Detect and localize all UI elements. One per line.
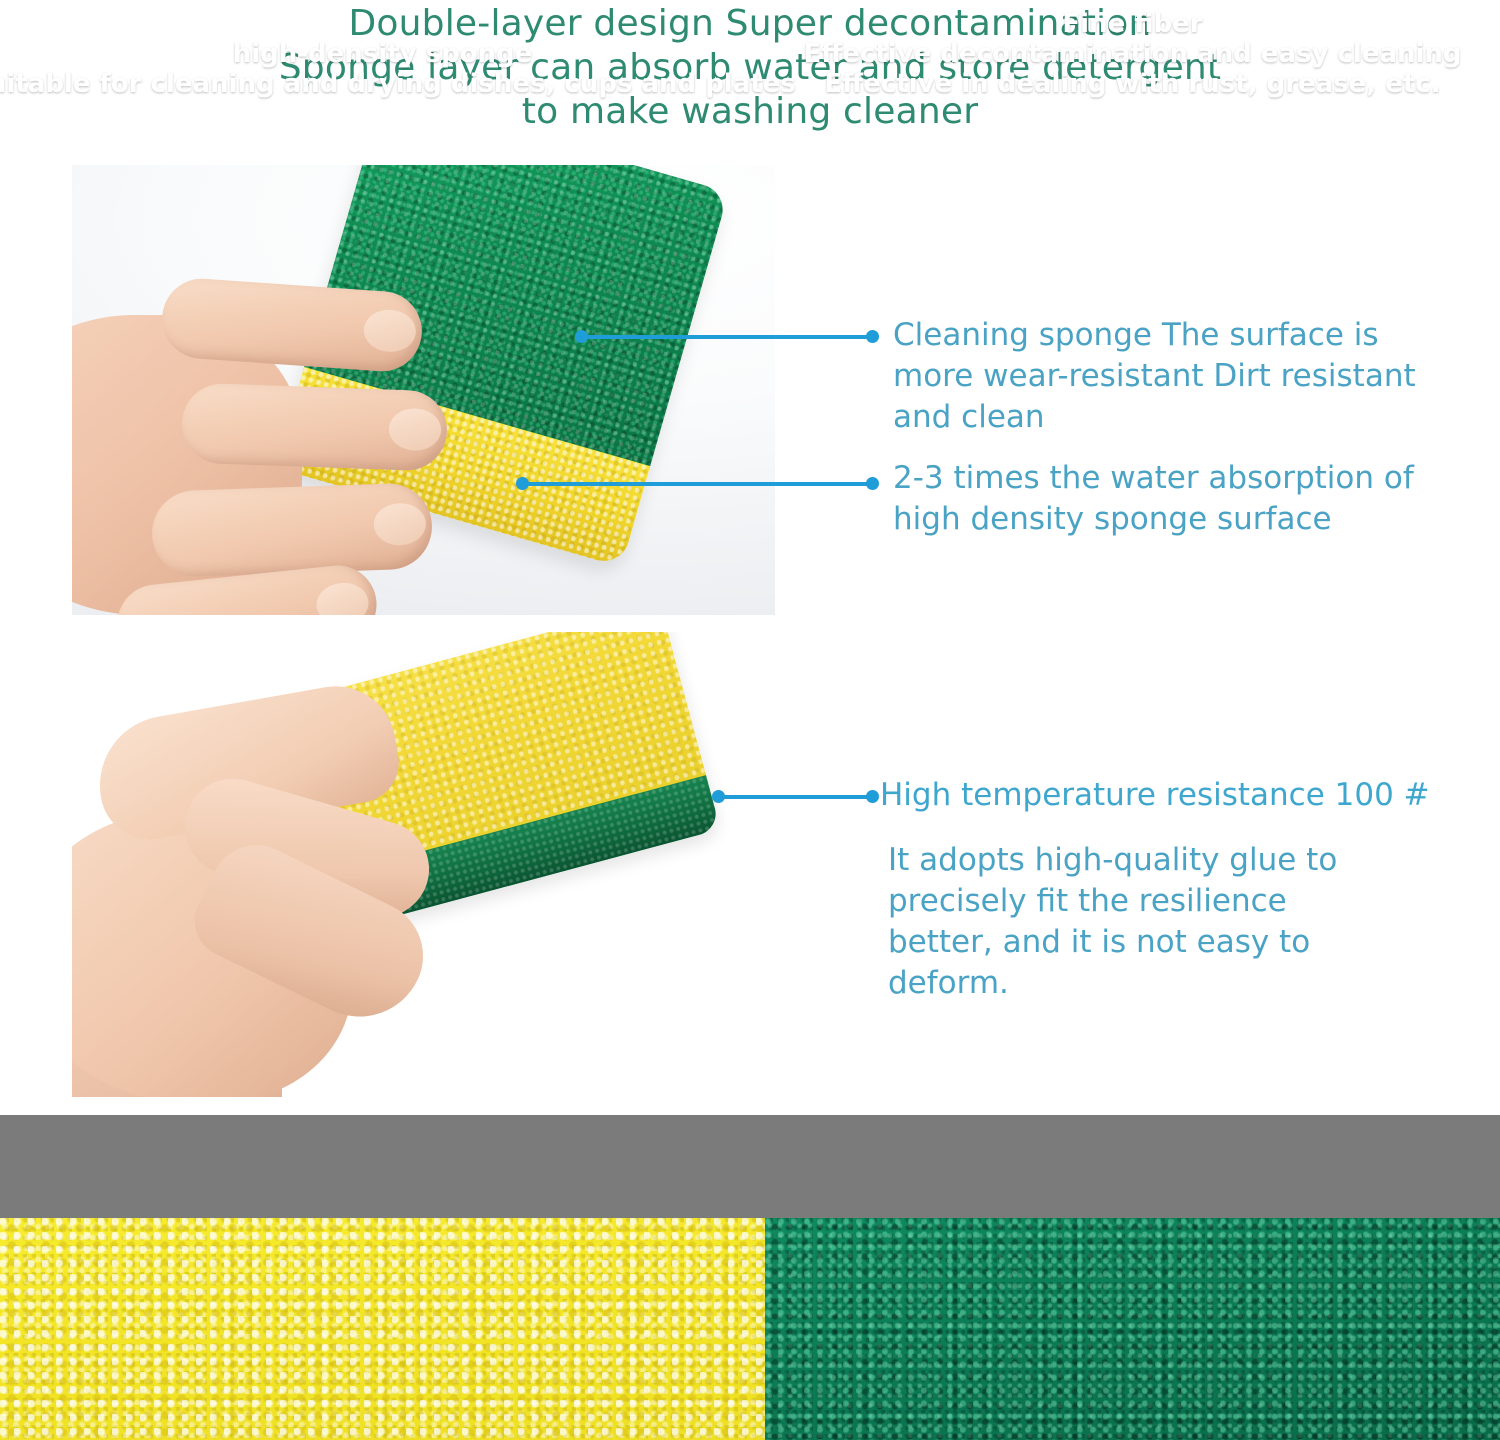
- leader-dot-end-2: [866, 477, 879, 490]
- callout-line: High temperature resistance 100 #: [880, 775, 1490, 816]
- fingernail-icon: [362, 308, 417, 354]
- product-photo-yellow-side: [72, 632, 775, 1097]
- finger-middle: [181, 382, 449, 471]
- leader-dot-end-1: [866, 330, 879, 343]
- band-right-subtitle-2: Effective in dealing with rust, grease, …: [824, 69, 1440, 99]
- fingernail-icon: [373, 502, 426, 546]
- callout-glue-resilience: It adopts high-quality glue to precisely…: [888, 840, 1488, 1004]
- leader-line-1: [581, 335, 875, 339]
- callout-line: It adopts high-quality glue to: [888, 840, 1488, 881]
- fingernail-icon: [388, 408, 441, 452]
- hand-graphic: [72, 692, 512, 1092]
- leader-line-2: [522, 482, 874, 486]
- texture-swatch-yellow-sponge: [0, 1218, 765, 1440]
- bottom-caption-band: [0, 1115, 1500, 1218]
- band-caption-right: Fine fiber Effective decontamination and…: [765, 0, 1500, 103]
- callout-line: 2-3 times the water absorption of: [893, 458, 1493, 499]
- texture-swatch-green-fiber: [765, 1218, 1500, 1440]
- product-photo-green-side: [72, 165, 775, 615]
- finger-ring: [151, 482, 434, 578]
- hand-graphic: [72, 275, 502, 615]
- band-left-title: high-density sponge: [233, 39, 533, 69]
- band-caption-left: high-density sponge Suitable for cleanin…: [0, 0, 765, 103]
- callout-water-absorption: 2-3 times the water absorption of high d…: [893, 458, 1493, 540]
- callout-line: precisely fit the resilience: [888, 881, 1488, 922]
- callout-line: Cleaning sponge The surface is: [893, 315, 1493, 356]
- callout-line: high density sponge surface: [893, 499, 1493, 540]
- callout-line: and clean: [893, 397, 1493, 438]
- callout-line: better, and it is not easy to: [888, 922, 1488, 963]
- band-left-subtitle: Suitable for cleaning and drying dishes,…: [0, 69, 796, 99]
- callout-high-temperature: High temperature resistance 100 #: [880, 775, 1490, 816]
- fingernail-icon: [314, 580, 370, 615]
- callout-cleaning-sponge: Cleaning sponge The surface is more wear…: [893, 315, 1493, 438]
- leader-dot-end-3: [866, 790, 879, 803]
- infographic-page: Double-layer design Super decontaminatio…: [0, 0, 1500, 1440]
- leader-line-3: [718, 795, 874, 799]
- callout-line: more wear-resistant Dirt resistant: [893, 356, 1493, 397]
- band-right-subtitle-1: Effective decontamination and easy clean…: [803, 39, 1461, 69]
- band-right-title: Fine fiber: [1062, 9, 1202, 39]
- callout-line: deform.: [888, 963, 1488, 1004]
